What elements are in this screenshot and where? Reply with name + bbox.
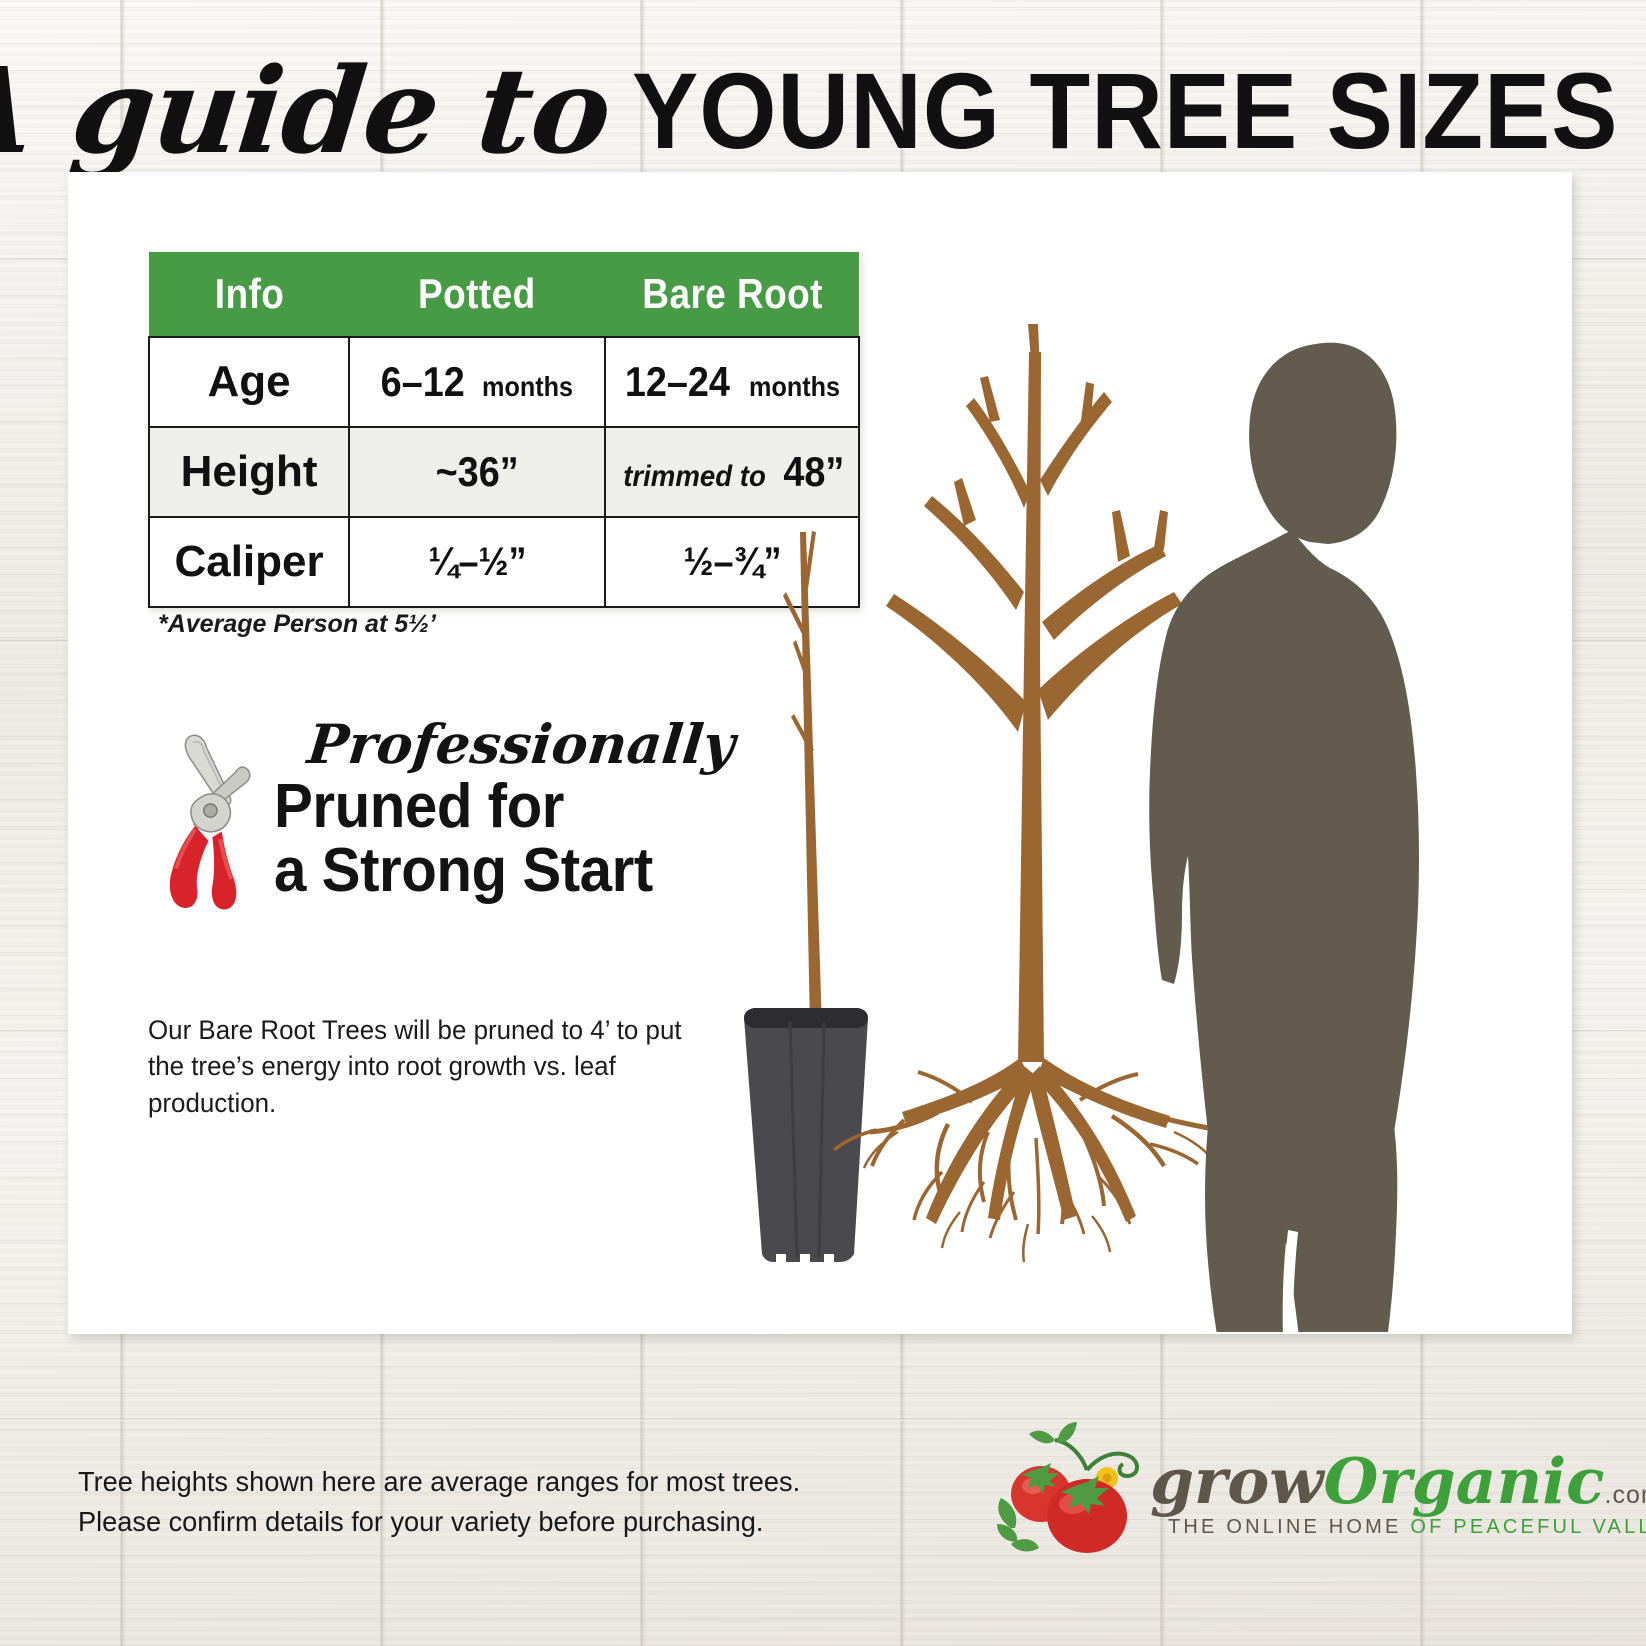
root-system bbox=[834, 1058, 1238, 1262]
footer-disclaimer: Tree heights shown here are average rang… bbox=[78, 1462, 800, 1542]
row-label-height: Height bbox=[149, 427, 349, 517]
cell-value: ~36” bbox=[436, 448, 519, 496]
logo-word-grow: grow bbox=[1150, 1444, 1324, 1518]
pruning-shears-icon bbox=[148, 727, 288, 917]
page-title: A guide to YOUNG TREE SIZES bbox=[0, 46, 1646, 176]
infographic-root: A guide to YOUNG TREE SIZES Info Potted … bbox=[0, 0, 1646, 1646]
title-script-part: A guide to bbox=[0, 52, 616, 170]
pruning-section: Professionally Pruned for a Strong Start bbox=[148, 717, 768, 1017]
disclaimer-line2: Please confirm details for your variety … bbox=[78, 1502, 800, 1542]
table-footnote: *Average Person at 5½’ bbox=[158, 610, 436, 639]
cell-value: 6–12 bbox=[381, 358, 465, 406]
pruning-headline-line1: Pruned for bbox=[274, 775, 744, 839]
table-header-potted: Potted bbox=[349, 252, 605, 337]
title-block-part: YOUNG TREE SIZES bbox=[632, 57, 1618, 165]
row-label-age: Age bbox=[149, 337, 349, 427]
potted-tree-illustration bbox=[744, 531, 868, 1264]
pruning-body-line2: the tree’s energy into root growth vs. l… bbox=[148, 1048, 743, 1121]
table-header-info: Info bbox=[149, 252, 349, 337]
logo-tagline: THE ONLINE HOME OF PEACEFUL VALLEY bbox=[1168, 1516, 1646, 1539]
pruning-headline-line2: a Strong Start bbox=[274, 839, 744, 903]
logo-word-domain: .com bbox=[1605, 1481, 1646, 1509]
row-label-caliper: Caliper bbox=[149, 517, 349, 607]
cell-caliper-potted: ¼–½” bbox=[349, 517, 605, 607]
tomato-vine-icon bbox=[995, 1416, 1175, 1566]
cell-age-potted: 6–12 months bbox=[349, 337, 605, 427]
logo-word-organic: Organic bbox=[1324, 1444, 1605, 1518]
grow-organic-logo[interactable]: growOrganic.com THE ONLINE HOME OF PEACE… bbox=[1000, 1398, 1570, 1568]
disclaimer-line1: Tree heights shown here are average rang… bbox=[78, 1462, 800, 1502]
pruning-headline: Pruned for a Strong Start bbox=[274, 775, 744, 904]
cell-value: ¼–½” bbox=[428, 540, 526, 585]
size-comparison-illustration bbox=[688, 232, 1548, 1332]
logo-tagline-part1: THE ONLINE HOME bbox=[1168, 1516, 1402, 1538]
pruning-body-text: Our Bare Root Trees will be pruned to 4’… bbox=[148, 1012, 743, 1121]
logo-tagline-part2: OF PEACEFUL VALLEY bbox=[1410, 1516, 1646, 1538]
logo-wordmark: growOrganic.com bbox=[1150, 1450, 1646, 1513]
content-card: Info Potted Bare Root Age 6–12 months bbox=[68, 172, 1572, 1334]
person-silhouette bbox=[1149, 343, 1419, 1332]
pruning-script-line: Professionally bbox=[305, 717, 737, 771]
pruning-body-line1: Our Bare Root Trees will be pruned to 4’… bbox=[148, 1012, 743, 1048]
cell-height-potted: ~36” bbox=[349, 427, 605, 517]
cell-unit: months bbox=[482, 371, 573, 403]
